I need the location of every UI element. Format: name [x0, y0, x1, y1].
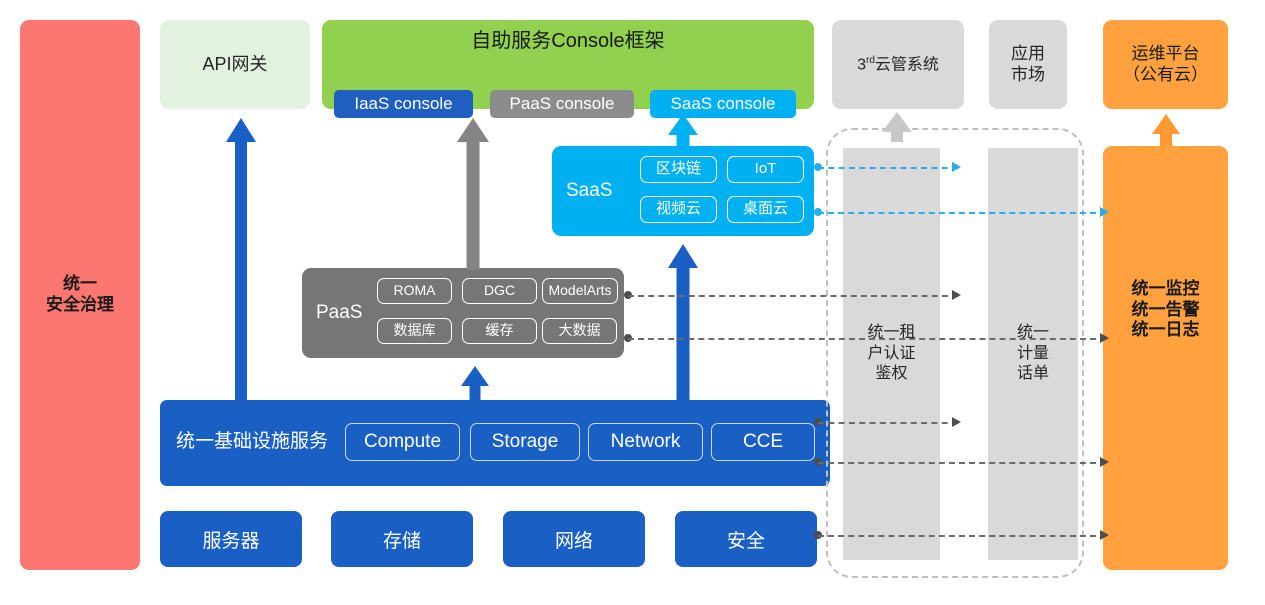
paas-item-database[interactable]: 数据库 — [377, 318, 452, 344]
arrow-shared-to-third-party-icon — [882, 112, 912, 142]
shared-service-tenant-auth-label: 统一租户认证鉴权 — [867, 323, 915, 384]
arrowhead-paas-to-ops-icon — [1100, 333, 1109, 343]
third-party-cloud-mgmt-box[interactable]: 3rd云管系统 — [832, 20, 964, 109]
dashed-line-saas-to-ops — [818, 212, 1106, 214]
paas-layer-label: PaaS — [316, 301, 362, 324]
arrow-ops-platform-up-icon — [1152, 114, 1180, 146]
paas-item-modelarts[interactable]: ModelArts — [542, 278, 618, 304]
app-market-label: 应用市场 — [1011, 44, 1045, 85]
infra-item-network[interactable]: Network — [588, 423, 703, 461]
saas-item-blockchain[interactable]: 区块链 — [640, 156, 717, 183]
hardware-item-storage[interactable]: 存储 — [331, 511, 473, 567]
shared-service-metering-billing[interactable]: 统一计量话单 — [988, 148, 1078, 560]
saas-item-video-cloud[interactable]: 视频云 — [640, 196, 717, 223]
ops-platform-body-panel[interactable]: 统一监控统一告警统一日志 — [1103, 146, 1228, 570]
arrowhead-paas-to-auth-icon — [952, 290, 961, 300]
hardware-item-server[interactable]: 服务器 — [160, 511, 302, 567]
arrowhead-infra-to-ops-icon — [1100, 457, 1109, 467]
arrowhead-hardware-to-ops-icon — [1100, 530, 1109, 540]
console-framework-panel: 自助服务Console框架 IaaS console PaaS console … — [322, 20, 814, 109]
arrowhead-saas-to-ops-icon — [1100, 207, 1109, 217]
paas-item-bigdata[interactable]: 大数据 — [542, 318, 617, 344]
paas-layer-panel: PaaS ROMA DGC ModelArts 数据库 缓存 大数据 — [302, 268, 624, 358]
security-governance-panel[interactable]: 统一安全治理 — [20, 20, 140, 570]
console-framework-title: 自助服务Console框架 — [322, 29, 814, 53]
arrow-paas-to-console-icon — [457, 118, 489, 270]
paas-item-cache[interactable]: 缓存 — [462, 318, 537, 344]
architecture-diagram-canvas: 统一安全治理 API网关 自助服务Console框架 IaaS console … — [0, 0, 1265, 605]
arrowhead-saas-to-auth-icon — [952, 162, 961, 172]
hardware-item-network[interactable]: 网络 — [503, 511, 645, 567]
ops-platform-body-label: 统一监控统一告警统一日志 — [1132, 279, 1200, 341]
paas-item-dgc[interactable]: DGC — [462, 278, 537, 304]
iaas-console-chip[interactable]: IaaS console — [334, 90, 473, 118]
saas-item-iot[interactable]: IoT — [727, 156, 804, 183]
unified-infrastructure-panel: 统一基础设施服务 Compute Storage Network CCE — [160, 400, 830, 486]
arrowhead-infra-to-auth-icon — [952, 417, 961, 427]
hardware-item-security[interactable]: 安全 — [675, 511, 817, 567]
ops-platform-header-box[interactable]: 运维平台（公有云） — [1103, 20, 1228, 109]
dashed-line-saas-to-auth — [818, 167, 958, 169]
unified-infrastructure-label: 统一基础设施服务 — [176, 430, 328, 453]
ops-platform-header-label: 运维平台（公有云） — [1123, 44, 1208, 85]
arrow-infra-to-paas-icon — [461, 366, 489, 402]
dashed-line-paas-to-auth — [628, 295, 958, 297]
app-market-box[interactable]: 应用市场 — [989, 20, 1067, 109]
dashed-line-paas-to-ops — [628, 338, 1106, 340]
dashed-line-hardware-to-ops — [818, 535, 1106, 537]
saas-layer-label: SaaS — [566, 179, 612, 202]
api-gateway-box[interactable]: API网关 — [160, 20, 310, 109]
dashed-line-infra-to-auth — [818, 422, 958, 424]
infra-item-cce[interactable]: CCE — [711, 423, 815, 461]
api-gateway-label: API网关 — [202, 54, 267, 76]
infra-item-storage[interactable]: Storage — [470, 423, 580, 461]
dashed-line-infra-to-ops — [818, 462, 1106, 464]
saas-layer-panel: SaaS 区块链 IoT 视频云 桌面云 — [552, 146, 814, 236]
shared-service-tenant-auth[interactable]: 统一租户认证鉴权 — [843, 148, 940, 560]
paas-console-chip[interactable]: PaaS console — [490, 90, 634, 118]
arrow-api-gateway-up-icon — [226, 118, 256, 402]
saas-item-desktop-cloud[interactable]: 桌面云 — [727, 196, 804, 223]
security-governance-label: 统一安全治理 — [46, 274, 114, 315]
third-party-cloud-mgmt-label: 3rd云管系统 — [857, 55, 939, 75]
paas-item-roma[interactable]: ROMA — [377, 278, 452, 304]
infra-item-compute[interactable]: Compute — [345, 423, 460, 461]
arrow-infra-to-saas-icon — [668, 244, 698, 402]
shared-service-metering-billing-label: 统一计量话单 — [1017, 323, 1049, 384]
arrow-saas-to-console-icon — [668, 114, 698, 148]
